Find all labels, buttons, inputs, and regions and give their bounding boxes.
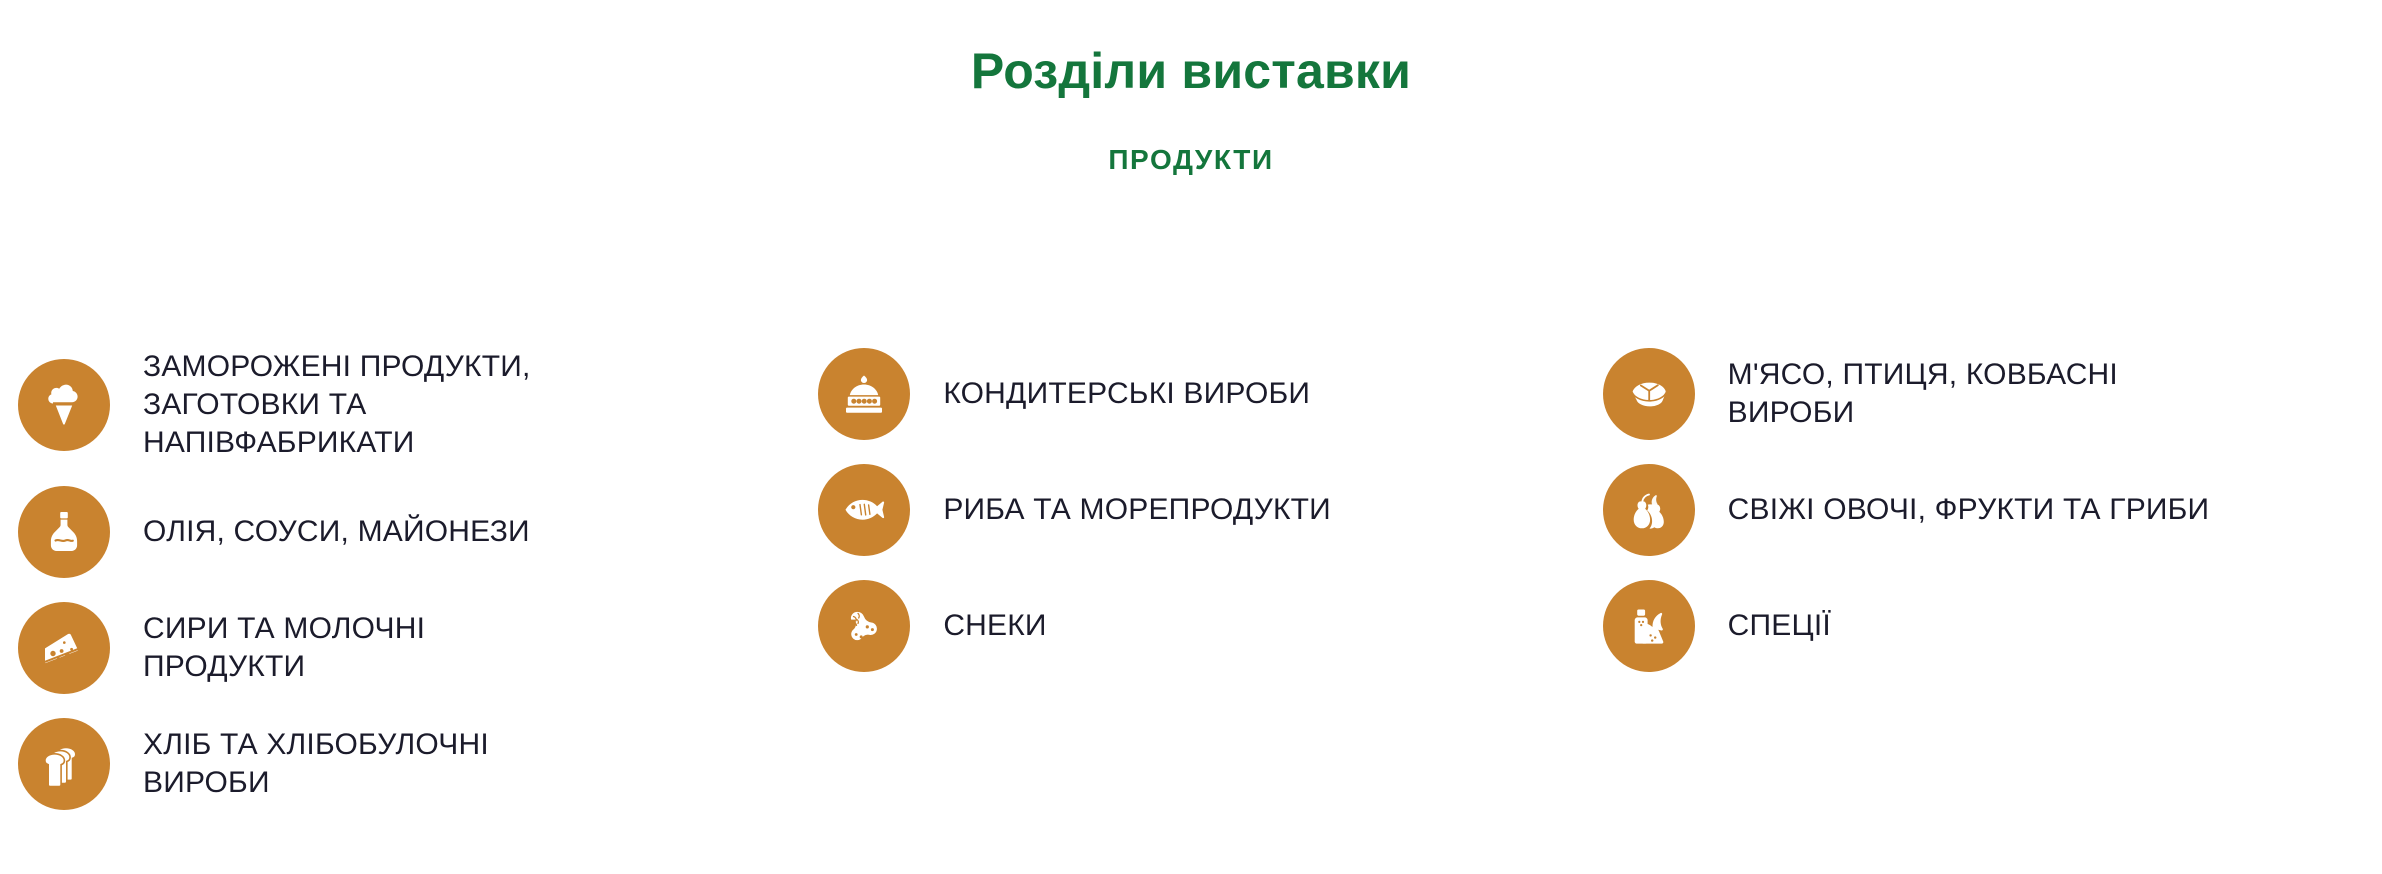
category-item-spices[interactable]: СПЕЦІЇ <box>1603 580 2382 672</box>
category-columns: ЗАМОРОЖЕНІ ПРОДУКТИ, ЗАГОТОВКИ ТА НАПІВФ… <box>0 348 2382 834</box>
category-item-label: М'ЯСО, ПТИЦЯ, КОВБАСНІ ВИРОБИ <box>1695 356 2118 432</box>
category-item-bread-bakery[interactable]: ХЛІБ ТА ХЛІБОБУЛОЧНІ ВИРОБИ <box>18 718 800 810</box>
meat-ham-icon <box>1603 348 1695 440</box>
page-header: Розділи виставки ПРОДУКТИ <box>0 0 2382 176</box>
peanut-snack-icon <box>818 580 910 672</box>
exhibition-sections-page: Розділи виставки ПРОДУКТИ ЗАМОРОЖЕНІ ПРО… <box>0 0 2382 874</box>
spice-shaker-herbs-icon <box>1603 580 1695 672</box>
category-item-snacks[interactable]: СНЕКИ <box>818 580 1597 672</box>
page-subtitle: ПРОДУКТИ <box>0 99 2382 176</box>
category-column-1: ЗАМОРОЖЕНІ ПРОДУКТИ, ЗАГОТОВКИ ТА НАПІВФ… <box>0 348 800 834</box>
pear-fruit-icon <box>1603 464 1695 556</box>
category-item-oils-sauces[interactable]: ОЛІЯ, СОУСИ, МАЙОНЕЗИ <box>18 486 800 578</box>
category-item-label: ОЛІЯ, СОУСИ, МАЙОНЕЗИ <box>110 513 530 551</box>
category-item-cheese-dairy[interactable]: СИРИ ТА МОЛОЧНІ ПРОДУКТИ <box>18 602 800 694</box>
category-item-frozen-products[interactable]: ЗАМОРОЖЕНІ ПРОДУКТИ, ЗАГОТОВКИ ТА НАПІВФ… <box>18 348 800 462</box>
category-item-fresh-vegetables-fruits-mushrooms[interactable]: СВІЖІ ОВОЧІ, ФРУКТИ ТА ГРИБИ <box>1603 464 2382 556</box>
category-column-2: КОНДИТЕРСЬКІ ВИРОБИ РИБА ТА МОРЕПРОДУКТИ <box>800 348 1597 696</box>
bread-slices-icon <box>18 718 110 810</box>
category-item-confectionery[interactable]: КОНДИТЕРСЬКІ ВИРОБИ <box>818 348 1597 440</box>
category-item-label: СВІЖІ ОВОЧІ, ФРУКТИ ТА ГРИБИ <box>1695 491 2210 529</box>
cheese-wedge-icon <box>18 602 110 694</box>
oil-bottle-icon <box>18 486 110 578</box>
ice-cream-cone-icon <box>18 359 110 451</box>
page-title: Розділи виставки <box>0 44 2382 99</box>
fish-icon <box>818 464 910 556</box>
category-item-label: СНЕКИ <box>910 607 1046 645</box>
category-item-label: ЗАМОРОЖЕНІ ПРОДУКТИ, ЗАГОТОВКИ ТА НАПІВФ… <box>110 348 531 462</box>
category-item-label: КОНДИТЕРСЬКІ ВИРОБИ <box>910 375 1310 413</box>
category-item-label: СИРИ ТА МОЛОЧНІ ПРОДУКТИ <box>110 610 563 686</box>
category-column-3: М'ЯСО, ПТИЦЯ, КОВБАСНІ ВИРОБИ СВІЖІ ОВОЧ… <box>1598 348 2382 696</box>
category-item-label: РИБА ТА МОРЕПРОДУКТИ <box>910 491 1331 529</box>
category-item-meat-poultry-sausage[interactable]: М'ЯСО, ПТИЦЯ, КОВБАСНІ ВИРОБИ <box>1603 348 2382 440</box>
category-item-label: ХЛІБ ТА ХЛІБОБУЛОЧНІ ВИРОБИ <box>110 726 563 802</box>
cake-icon <box>818 348 910 440</box>
category-item-fish-seafood[interactable]: РИБА ТА МОРЕПРОДУКТИ <box>818 464 1597 556</box>
category-item-label: СПЕЦІЇ <box>1695 607 1831 645</box>
